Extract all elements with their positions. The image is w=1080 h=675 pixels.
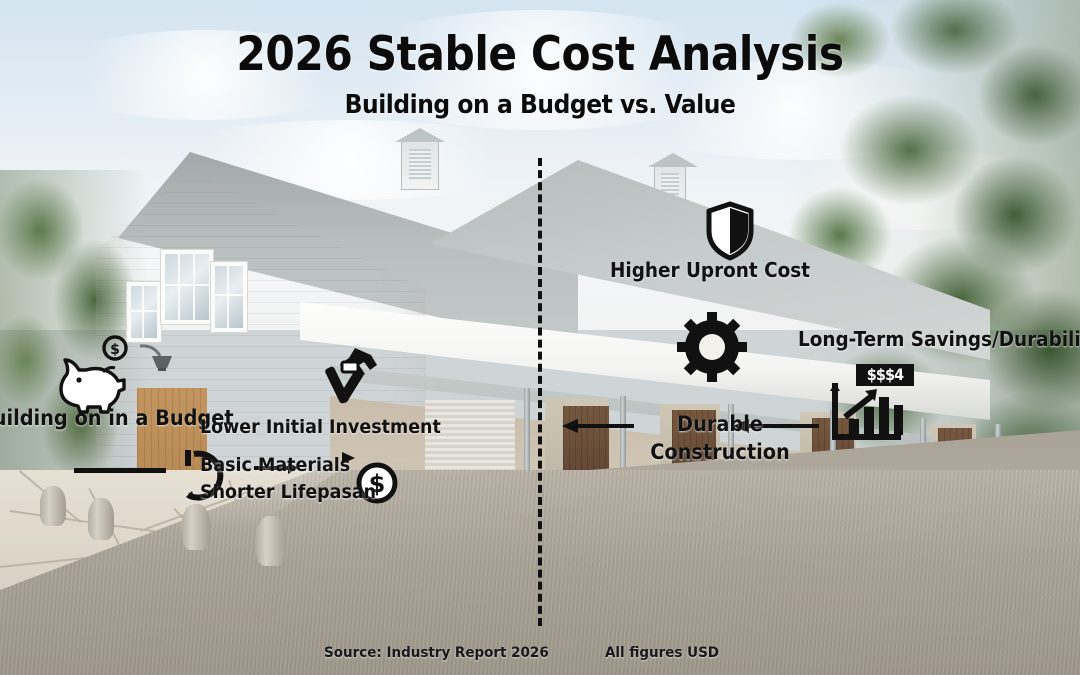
infographic-canvas: 2026 Stable Cost Analysis Building on a … [0,0,1080,675]
budget-point-1: Basic Materials [200,454,350,476]
budget-point-2: Shorter Lifepasan [200,481,376,503]
svg-text:$: $ [110,342,120,358]
hammer-tool-icon [316,346,388,406]
infographic-overlay: 2026 Stable Cost Analysis Building on a … [0,0,1080,675]
footer-source: Source: Industry Report 2026 [324,645,549,661]
growth-chart-icon [829,383,905,445]
budget-heading: Building on in a Budget [0,406,234,430]
page-title: 2026 Stable Cost Analysis [54,29,1026,81]
shield-icon [706,202,754,260]
budget-point-0: Lower Initial Investment [200,416,441,438]
footer-currency-note: All figures USD [605,645,719,661]
value-point-0: Higher Upront Cost [572,258,848,282]
value-point-1: Long-Term Savings/Durability [798,327,1080,351]
piggy-bank-icon: $ [63,336,135,404]
arrow-left-outer [562,418,634,434]
page-subtitle: Building on a Budget vs. Value [54,90,1026,120]
gear-icon [679,314,745,380]
comparison-divider [538,158,542,626]
value-point-2-line1: Durable [646,412,793,436]
value-point-2-line2: Construction [646,440,793,464]
